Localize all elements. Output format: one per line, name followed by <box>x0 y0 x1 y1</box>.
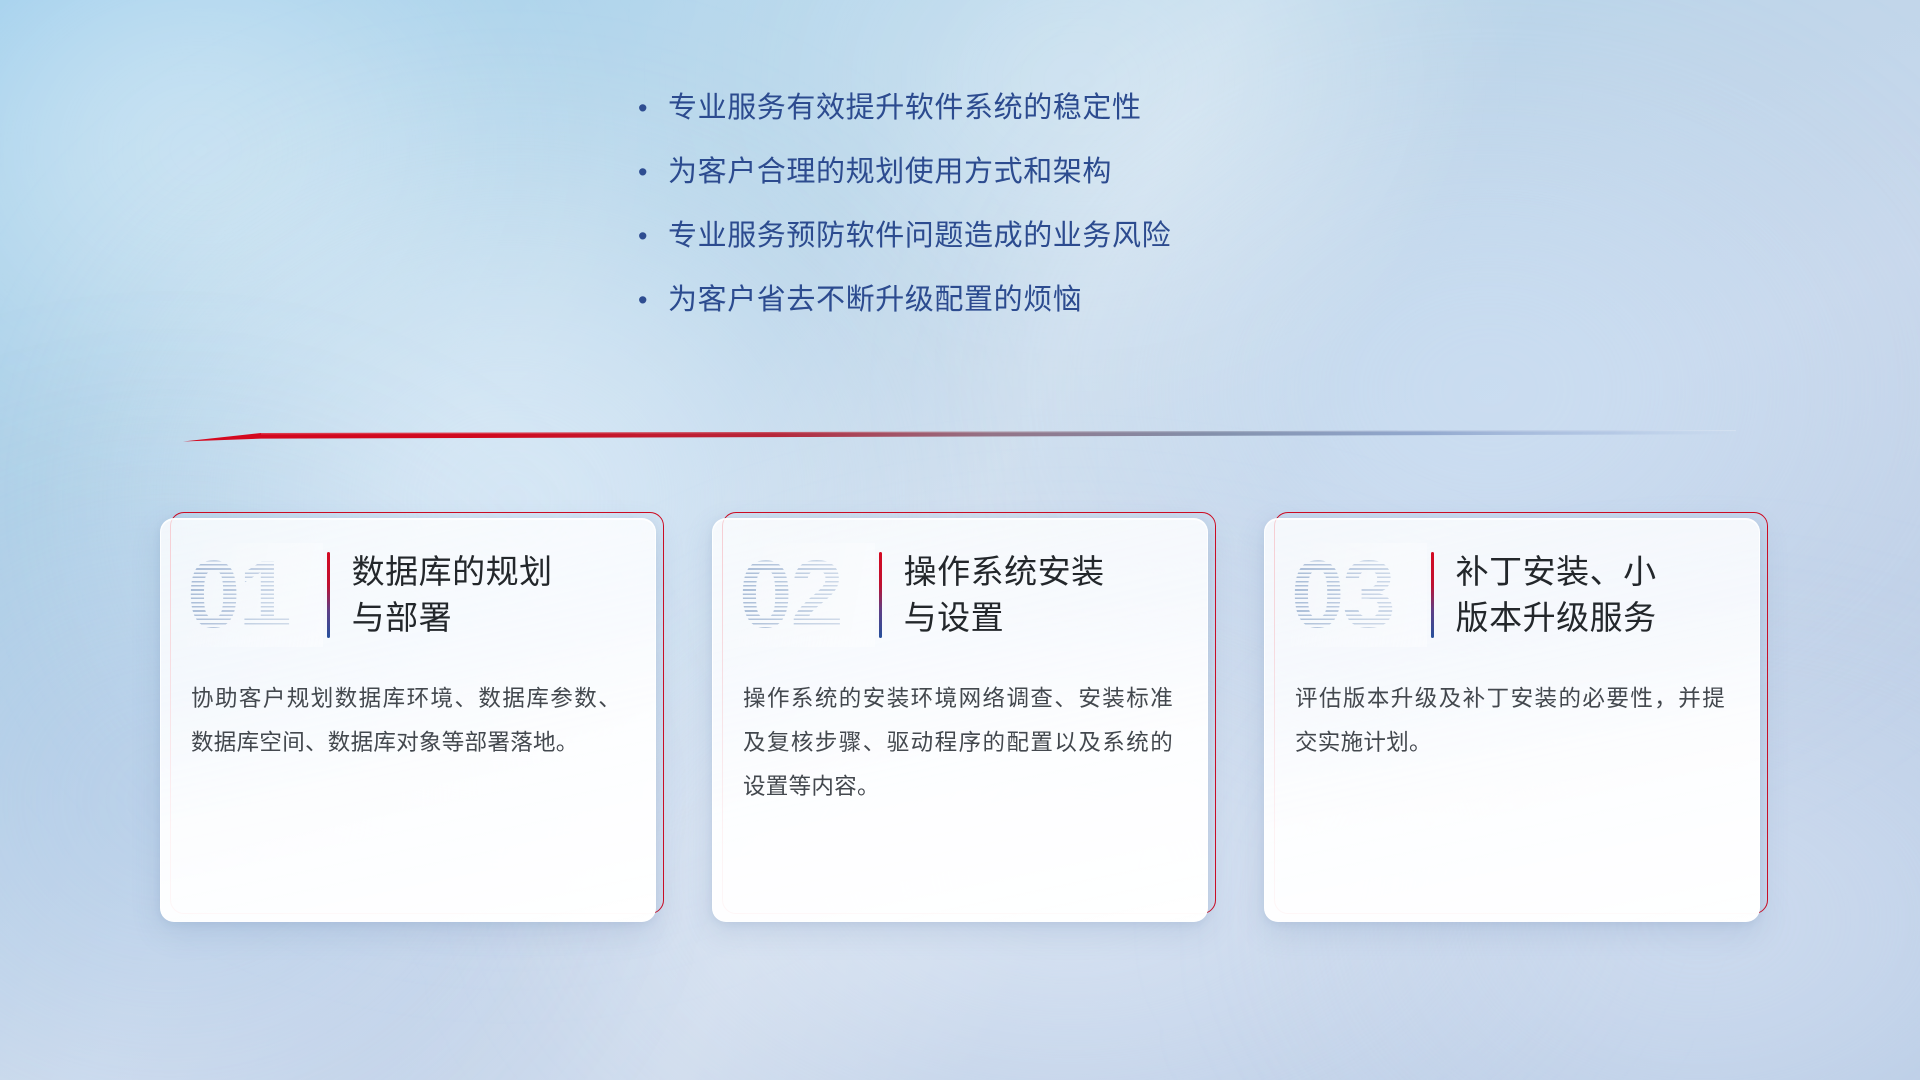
card-description: 协助客户规划数据库环境、数据库参数、数据库空间、数据库对象等部署落地。 <box>161 671 655 765</box>
card-divider-rule <box>879 552 882 638</box>
card-number-02: 02 <box>739 543 875 647</box>
service-card-02[interactable]: 02 操作系统安装 与设置 操作系统的安装环境网络调查、安装标准及复核步骤、驱动… <box>712 518 1208 922</box>
card-header: 02 操作系统安装 与设置 <box>713 519 1207 671</box>
card-number-01: 01 <box>187 543 323 647</box>
card-title: 操作系统安装 与设置 <box>904 549 1105 641</box>
tapered-divider <box>183 424 1736 446</box>
service-card-03[interactable]: 03 补丁安装、小 版本升级服务 评估版本升级及补丁安装的必要性，并提交实施计划… <box>1264 518 1760 922</box>
service-card-row: 01 数据库的规划 与部署 协助客户规划数据库环境、数据库参数、数据库空间、数据… <box>0 518 1920 922</box>
card-header: 03 补丁安装、小 版本升级服务 <box>1265 519 1759 671</box>
card-divider-rule <box>1431 552 1434 638</box>
card-title: 数据库的规划 与部署 <box>352 549 553 641</box>
bullet-item-label: 专业服务预防软件问题造成的业务风险 <box>668 216 1171 256</box>
service-card-01[interactable]: 01 数据库的规划 与部署 协助客户规划数据库环境、数据库参数、数据库空间、数据… <box>160 518 656 922</box>
bullet-item-label: 为客户省去不断升级配置的烦恼 <box>668 280 1082 320</box>
list-item: • 为客户合理的规划使用方式和架构 <box>600 152 1320 216</box>
list-item: • 专业服务预防软件问题造成的业务风险 <box>600 216 1320 280</box>
card-surface: 02 操作系统安装 与设置 操作系统的安装环境网络调查、安装标准及复核步骤、驱动… <box>712 518 1208 922</box>
card-description: 评估版本升级及补丁安装的必要性，并提交实施计划。 <box>1265 671 1759 765</box>
card-description: 操作系统的安装环境网络调查、安装标准及复核步骤、驱动程序的配置以及系统的设置等内… <box>713 671 1207 809</box>
list-item: • 专业服务有效提升软件系统的稳定性 <box>600 88 1320 152</box>
card-number-03: 03 <box>1291 543 1427 647</box>
card-title: 补丁安装、小 版本升级服务 <box>1456 549 1657 641</box>
bullet-item-label: 专业服务有效提升软件系统的稳定性 <box>668 88 1142 128</box>
bullet-item-label: 为客户合理的规划使用方式和架构 <box>668 152 1112 192</box>
list-item: • 为客户省去不断升级配置的烦恼 <box>600 280 1320 344</box>
tapered-divider-shape <box>183 424 1736 446</box>
bullet-dot-icon: • <box>638 152 668 192</box>
bullet-dot-icon: • <box>638 216 668 256</box>
card-surface: 01 数据库的规划 与部署 协助客户规划数据库环境、数据库参数、数据库空间、数据… <box>160 518 656 922</box>
bullet-dot-icon: • <box>638 280 668 320</box>
card-header: 01 数据库的规划 与部署 <box>161 519 655 671</box>
card-divider-rule <box>327 552 330 638</box>
card-surface: 03 补丁安装、小 版本升级服务 评估版本升级及补丁安装的必要性，并提交实施计划… <box>1264 518 1760 922</box>
benefits-bullet-list: • 专业服务有效提升软件系统的稳定性 • 为客户合理的规划使用方式和架构 • 专… <box>0 88 1920 344</box>
bullet-dot-icon: • <box>638 88 668 128</box>
